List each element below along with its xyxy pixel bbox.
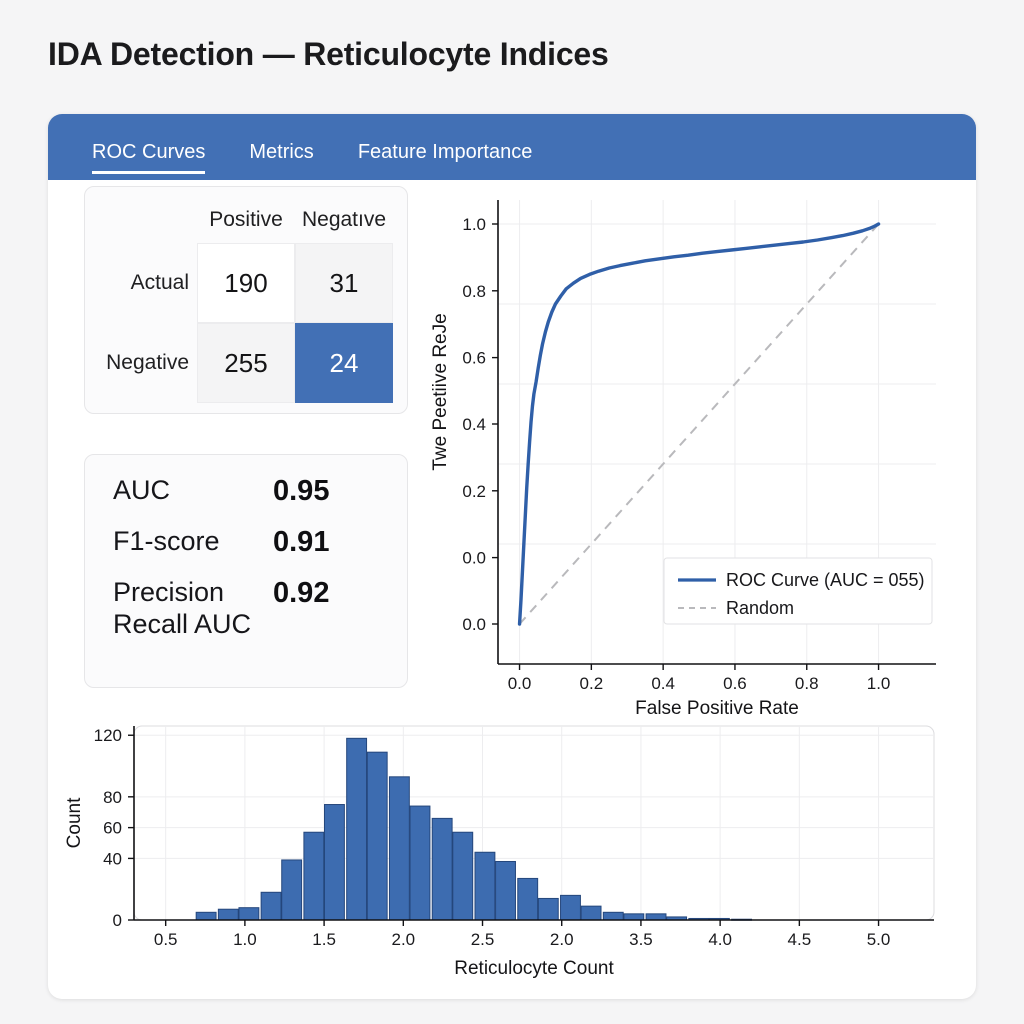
y-tick-label: 0.0 [462,615,486,634]
reticulocyte-histogram-chart: 0.51.01.52.02.52.03.54.04.55.00406080120… [58,714,958,984]
y-axis-title: Count [64,797,85,848]
x-tick-label: 2.0 [550,930,574,949]
metric-value: 0.91 [273,526,329,559]
x-tick-label: 0.5 [154,930,178,949]
metrics-panel: AUC 0.95 F1-score 0.91 Precision Recall … [84,454,408,688]
histogram-bar [239,908,259,920]
histogram-bar [432,818,452,920]
histogram-bar [603,912,623,920]
matrix-column-header-negative: Negatıve [295,197,393,243]
metric-row: F1-score 0.91 [113,526,387,559]
y-tick-label: 0.6 [462,349,486,368]
matrix-cell-false-positive: 255 [197,323,295,403]
y-tick-label: 120 [94,726,122,745]
metric-label: Precision Recall AUC [113,577,273,641]
x-tick-label: 4.5 [788,930,812,949]
histogram-bar [347,738,367,920]
y-tick-label: 0 [113,911,122,930]
legend-label: Random [726,598,794,618]
tab-bar: ROC Curves Metrics Feature Importance [48,114,976,180]
y-tick-label: 0.2 [462,482,486,501]
legend-label: ROC Curve (AUC = 055) [726,570,925,590]
x-tick-label: 1.0 [867,674,891,693]
y-tick-label: 80 [103,788,122,807]
y-axis-title: Twe Peetiive ReJe [430,313,451,470]
metric-value: 0.95 [273,475,329,508]
matrix-cell-true-positive: 190 [197,243,295,323]
x-tick-label: 4.0 [708,930,732,949]
main-card: ROC Curves Metrics Feature Importance Po… [48,114,976,999]
histogram-bar [304,832,324,920]
page-root: IDA Detection — Reticulocyte Indices ROC… [0,0,1024,1024]
metric-label: AUC [113,475,273,507]
histogram-bar [196,912,216,920]
confusion-matrix-grid: Positive Negatıve Actual 190 31 Negative… [101,197,393,403]
tab-roc-curves[interactable]: ROC Curves [92,141,205,180]
histogram-bar [538,898,558,920]
x-tick-label: 0.8 [795,674,819,693]
histogram-bar [218,909,238,920]
matrix-row-header-actual: Actual [101,243,197,323]
legend-box [664,558,932,624]
x-tick-label: 2.0 [391,930,415,949]
tab-label: Feature Importance [358,141,533,163]
y-tick-label: 40 [103,849,122,868]
y-tick-label: 0.8 [462,282,486,301]
x-axis-title: Reticulocyte Count [454,958,614,979]
matrix-cell-true-negative: 24 [295,323,393,403]
x-tick-label: 0.2 [580,674,604,693]
histogram-bar [324,805,344,920]
y-tick-label: 60 [103,819,122,838]
histogram-bar [646,914,666,920]
matrix-row-header-negative: Negative [101,323,197,403]
tab-label: ROC Curves [92,141,205,163]
x-tick-label: 3.5 [629,930,653,949]
y-tick-label: 0.4 [462,415,486,434]
tab-metrics[interactable]: Metrics [249,141,313,180]
matrix-cell-false-negative: 31 [295,243,393,323]
matrix-column-header-positive: Positive [197,197,295,243]
tab-feature-importance[interactable]: Feature Importance [358,141,533,180]
x-tick-label: 2.5 [471,930,495,949]
x-tick-label: 5.0 [867,930,891,949]
tab-label: Metrics [249,141,313,163]
x-tick-label: 0.6 [723,674,747,693]
x-tick-label: 0.0 [508,674,532,693]
roc-svg: 0.00.20.40.60.81.00.00.00.20.40.60.81.0F… [426,186,948,726]
histogram-bar [475,852,495,920]
histogram-bar [261,892,281,920]
histogram-bar [561,895,581,920]
histogram-bar [282,860,302,920]
confusion-matrix-panel: Positive Negatıve Actual 190 31 Negative… [84,186,408,414]
histogram-bar [389,777,409,920]
histogram-bar [581,906,601,920]
histogram-bar [410,806,430,920]
y-tick-label: 0.0 [462,549,486,568]
histogram-bar [624,914,644,920]
histogram-bar [367,752,387,920]
matrix-corner-spacer [101,197,197,243]
roc-curve-chart: 0.00.20.40.60.81.00.00.00.20.40.60.81.0F… [426,186,948,726]
metric-row: Precision Recall AUC 0.92 [113,577,387,641]
metric-label: F1-score [113,526,273,558]
y-tick-label: 1.0 [462,215,486,234]
metric-row: AUC 0.95 [113,475,387,508]
x-tick-label: 1.0 [233,930,257,949]
x-tick-label: 0.4 [651,674,675,693]
histogram-bar [496,861,516,920]
histogram-svg: 0.51.01.52.02.52.03.54.04.55.00406080120… [58,714,958,984]
x-tick-label: 1.5 [312,930,336,949]
page-title: IDA Detection — Reticulocyte Indices [48,36,609,73]
metrics-list: AUC 0.95 F1-score 0.91 Precision Recall … [113,475,387,641]
histogram-bar [453,832,473,920]
histogram-bar [518,878,538,920]
metric-value: 0.92 [273,577,329,610]
